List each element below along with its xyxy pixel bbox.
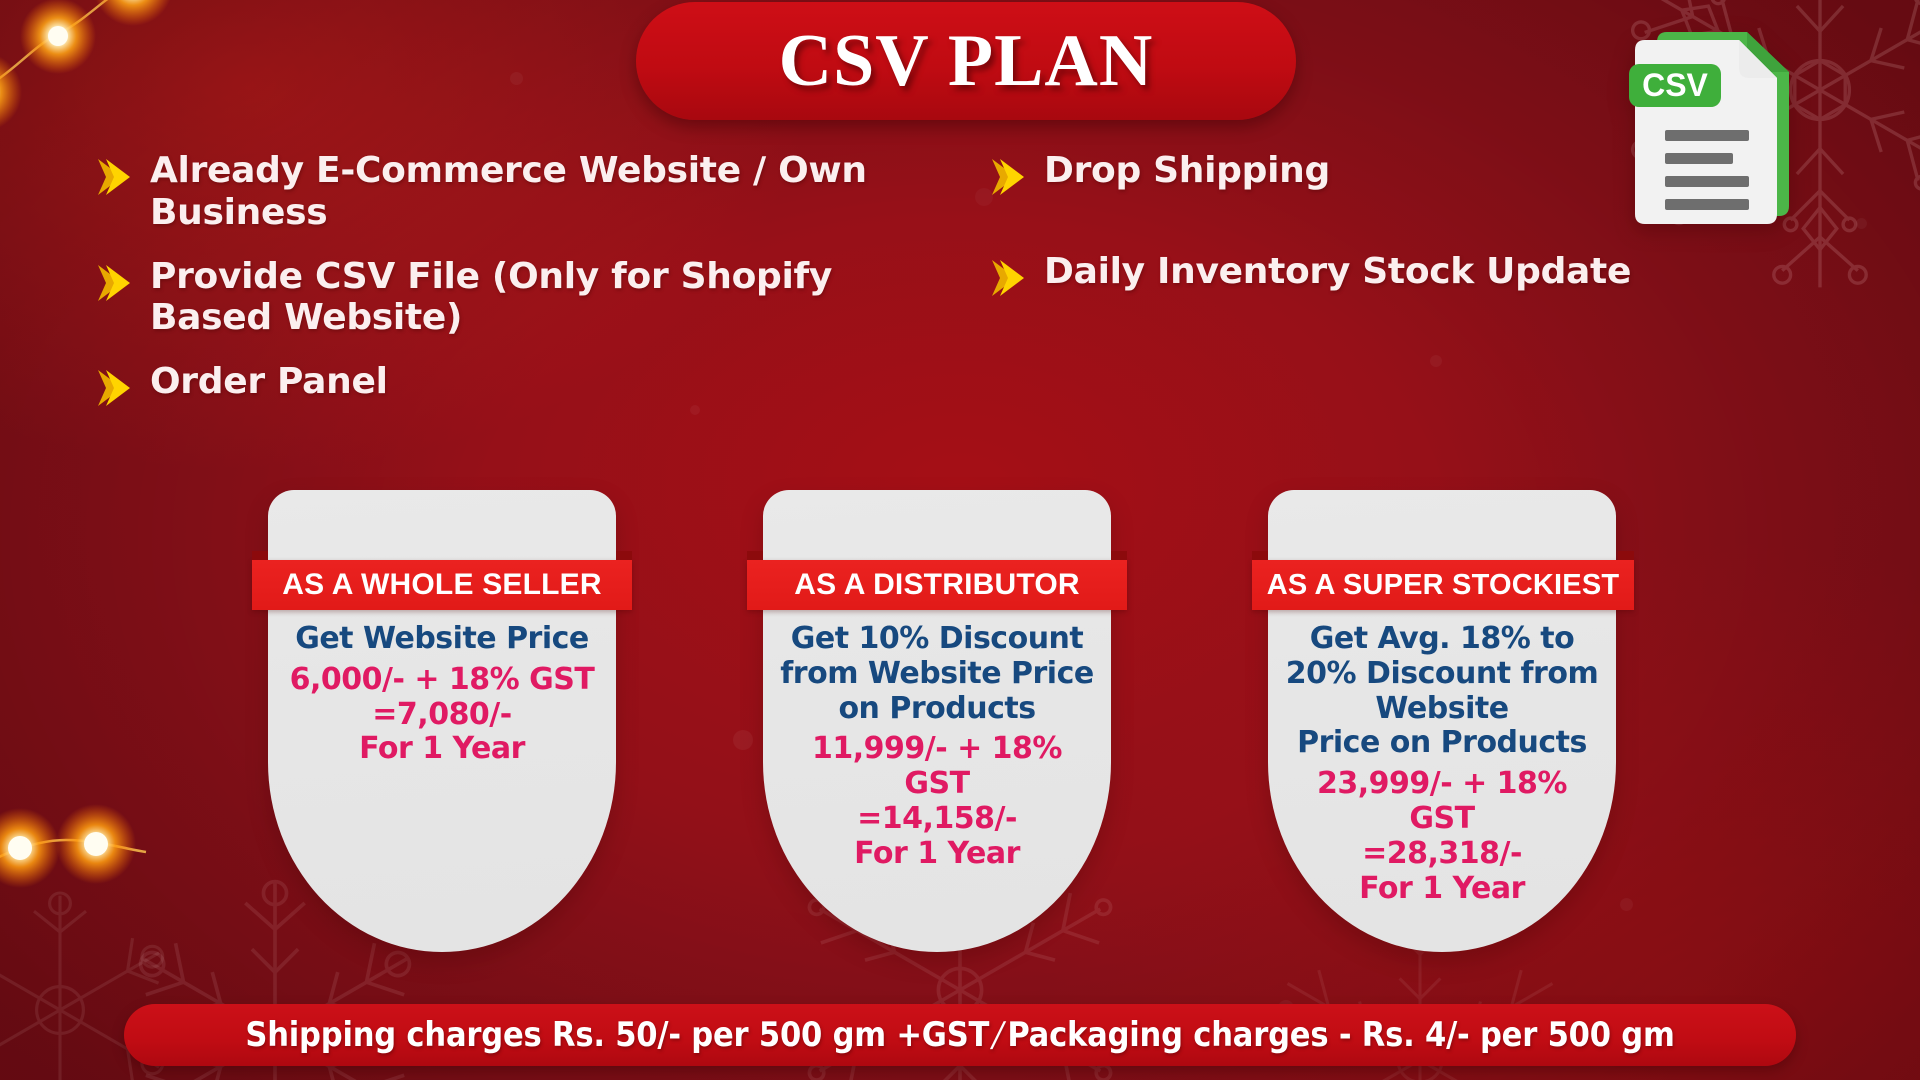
ribbon-fold-left: [747, 551, 763, 560]
charges-banner: Shipping charges Rs. 50/- per 500 gm +GS…: [124, 1004, 1796, 1066]
feature-label: Daily Inventory Stock Update: [1044, 251, 1631, 293]
plan-price: 6,000/- + 18% GST=7,080/-For 1 Year: [282, 663, 602, 767]
plan-card-title: AS A SUPER STOCKIEST: [1267, 569, 1620, 602]
ribbon-fold-right: [616, 551, 632, 560]
plan-card-list: AS A WHOLE SELLER Get Website Price 6,00…: [0, 490, 1920, 960]
feature-item: Order Panel: [96, 361, 906, 410]
feature-item: Daily Inventory Stock Update: [990, 251, 1780, 300]
feature-label: Order Panel: [150, 361, 388, 403]
double-chevron-arrow-icon: [990, 256, 1036, 300]
plan-headline: Get Website Price: [282, 622, 602, 657]
bokeh-dot: [510, 72, 523, 85]
csv-badge-label: CSV: [1642, 67, 1708, 103]
shipping-charges-label: Shipping charges Rs. 50/- per 500 gm +GS…: [245, 1015, 989, 1055]
plan-price: 23,999/- + 18% GST=28,318/-For 1 Year: [1282, 767, 1602, 906]
feature-label: Drop Shipping: [1044, 150, 1330, 192]
double-chevron-arrow-icon: [96, 155, 142, 199]
page-title: CSV PLAN: [779, 19, 1154, 104]
plan-card-ribbon: AS A SUPER STOCKIEST: [1252, 560, 1634, 610]
feature-label: Already E-Commerce Website / Own Busines…: [150, 150, 906, 234]
plan-price: 11,999/- + 18% GST=14,158/-For 1 Year: [777, 732, 1097, 871]
feature-list: Already E-Commerce Website / Own Busines…: [0, 150, 1920, 440]
plan-card[interactable]: AS A SUPER STOCKIEST Get Avg. 18% to 20%…: [1268, 490, 1616, 952]
double-chevron-arrow-icon: [990, 155, 1036, 199]
charges-separator: /: [989, 1015, 1008, 1055]
ribbon-fold-left: [252, 551, 268, 560]
ribbon-fold-right: [1111, 551, 1127, 560]
feature-label: Provide CSV File (Only for Shopify Based…: [150, 256, 906, 340]
feature-column-right: Drop Shipping Daily Inventory Stock Upda…: [990, 150, 1780, 352]
plan-headline: Get Avg. 18% to 20% Discount from Websit…: [1282, 622, 1602, 761]
double-chevron-arrow-icon: [96, 366, 142, 410]
plan-card-title: AS A WHOLE SELLER: [282, 568, 602, 602]
ribbon-fold-left: [1252, 551, 1268, 560]
ribbon-fold-right: [1618, 551, 1634, 560]
plan-card-ribbon: AS A DISTRIBUTOR: [747, 560, 1127, 610]
feature-item: Provide CSV File (Only for Shopify Based…: [96, 256, 906, 340]
plan-card[interactable]: AS A WHOLE SELLER Get Website Price 6,00…: [268, 490, 616, 952]
plan-card[interactable]: AS A DISTRIBUTOR Get 10% Discount from W…: [763, 490, 1111, 952]
plan-headline: Get 10% Discount from Website Price on P…: [777, 622, 1097, 726]
plan-card-ribbon: AS A WHOLE SELLER: [252, 560, 632, 610]
feature-column-left: Already E-Commerce Website / Own Busines…: [96, 150, 906, 432]
feature-item: Drop Shipping: [990, 150, 1780, 199]
feature-item: Already E-Commerce Website / Own Busines…: [96, 150, 906, 234]
page-title-banner: CSV PLAN: [636, 2, 1296, 120]
double-chevron-arrow-icon: [96, 261, 142, 305]
packaging-charges-label: Packaging charges - Rs. 4/- per 500 gm: [1007, 1015, 1674, 1055]
plan-card-content: Get Avg. 18% to 20% Discount from Websit…: [1282, 622, 1602, 906]
plan-card-content: Get 10% Discount from Website Price on P…: [777, 622, 1097, 872]
plan-card-title: AS A DISTRIBUTOR: [794, 568, 1079, 602]
plan-card-content: Get Website Price 6,000/- + 18% GST=7,08…: [282, 622, 602, 767]
